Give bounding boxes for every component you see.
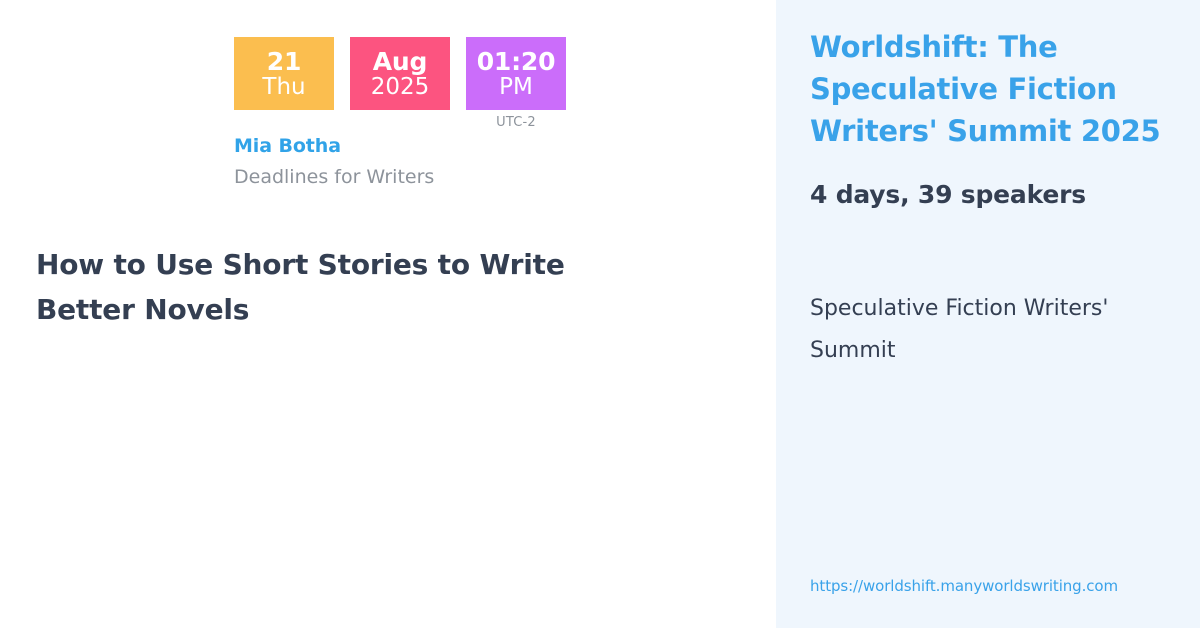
speaker-block: Mia Botha Deadlines for Writers [234, 133, 734, 191]
event-series-name: Speculative Fiction Writers' Summit [810, 288, 1160, 372]
day-number: 21 [267, 49, 301, 74]
day-weekday: Thu [262, 76, 305, 99]
event-duration-speakers: 4 days, 39 speakers [810, 177, 1182, 212]
event-title[interactable]: Worldshift: The Speculative Fiction Writ… [810, 26, 1182, 152]
datetime-badge-strip: 21 Thu Aug 2025 01:20 PM UTC-2 [234, 37, 566, 130]
day-badge: 21 Thu [234, 37, 334, 110]
time-meridiem: PM [499, 76, 533, 99]
month-badge-column: Aug 2025 [350, 37, 450, 110]
right-panel: Worldshift: The Speculative Fiction Writ… [776, 0, 1200, 628]
talk-title: How to Use Short Stories to Write Better… [36, 243, 636, 333]
speaker-organization: Deadlines for Writers [234, 163, 734, 192]
timezone-label: UTC-2 [496, 115, 536, 130]
time-badge-column: 01:20 PM UTC-2 [466, 37, 566, 130]
month-badge: Aug 2025 [350, 37, 450, 110]
speaker-name[interactable]: Mia Botha [234, 133, 734, 161]
year-number: 2025 [371, 76, 430, 99]
month-name: Aug [373, 49, 427, 74]
day-badge-column: 21 Thu [234, 37, 334, 110]
event-promo-card: 21 Thu Aug 2025 01:20 PM UTC-2 Mia Botha [0, 0, 1200, 628]
event-url-link[interactable]: https://worldshift.manyworldswriting.com [810, 576, 1190, 597]
time-badge: 01:20 PM [466, 37, 566, 110]
time-value: 01:20 [477, 49, 556, 74]
left-panel: 21 Thu Aug 2025 01:20 PM UTC-2 Mia Botha [0, 0, 776, 628]
